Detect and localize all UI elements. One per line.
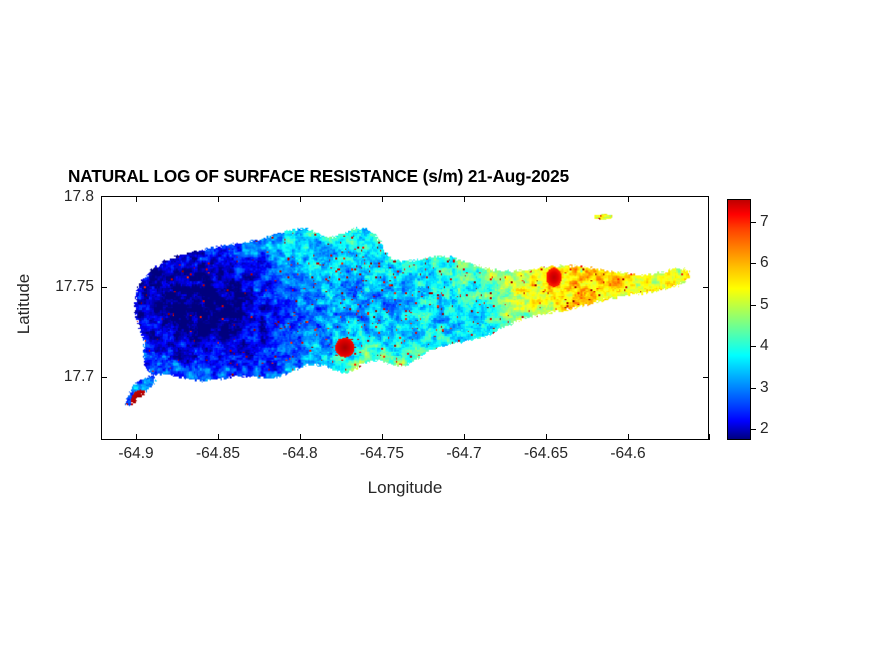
xtick-label: -64.75 xyxy=(360,445,404,463)
colorbar-label: 3 xyxy=(760,379,769,397)
colorbar-label: 7 xyxy=(760,213,769,231)
page-title: NATURAL LOG OF SURFACE RESISTANCE (s/m) … xyxy=(68,166,758,187)
xtick-mark xyxy=(628,434,629,440)
xtick-mark-top xyxy=(136,196,137,202)
xtick-mark-top xyxy=(300,196,301,202)
map-plot-area[interactable] xyxy=(101,196,709,440)
ytick-mark xyxy=(101,196,107,197)
colorbar-label: 5 xyxy=(760,296,769,314)
xtick-label: -64.6 xyxy=(610,445,645,463)
xtick-label: -64.65 xyxy=(524,445,568,463)
colorbar-tick xyxy=(751,388,756,389)
ytick-label: 17.8 xyxy=(2,188,94,206)
colorbar[interactable] xyxy=(727,199,751,440)
ytick-mark xyxy=(101,287,107,288)
colorbar-label: 6 xyxy=(760,254,769,272)
xtick-mark xyxy=(709,434,710,440)
xtick-mark-top xyxy=(382,196,383,202)
xtick-mark xyxy=(101,434,102,440)
surface-resistance-heatmap xyxy=(102,197,708,439)
colorbar-tick xyxy=(751,263,756,264)
colorbar-label: 2 xyxy=(760,420,769,438)
xtick-mark xyxy=(300,434,301,440)
colorbar-tick xyxy=(751,305,756,306)
ytick-mark-right xyxy=(703,377,709,378)
xtick-mark xyxy=(546,434,547,440)
xtick-mark-top xyxy=(546,196,547,202)
matlab-figure: NATURAL LOG OF SURFACE RESISTANCE (s/m) … xyxy=(0,0,875,656)
colorbar-tick xyxy=(751,222,756,223)
xtick-mark xyxy=(136,434,137,440)
xtick-mark xyxy=(382,434,383,440)
xtick-label: -64.85 xyxy=(196,445,240,463)
ytick-mark-right xyxy=(703,287,709,288)
xtick-label: -64.9 xyxy=(118,445,153,463)
xtick-label: -64.8 xyxy=(282,445,317,463)
x-axis-label: Longitude xyxy=(0,478,810,498)
xtick-mark-top xyxy=(218,196,219,202)
xtick-mark xyxy=(218,434,219,440)
y-axis-label: Latitude xyxy=(14,244,34,364)
colorbar-label: 4 xyxy=(760,337,769,355)
colorbar-tick xyxy=(751,346,756,347)
xtick-mark-top xyxy=(464,196,465,202)
colorbar-tick xyxy=(751,429,756,430)
ytick-mark xyxy=(101,377,107,378)
xtick-label: -64.7 xyxy=(446,445,481,463)
xtick-mark-top xyxy=(628,196,629,202)
xtick-mark xyxy=(464,434,465,440)
ytick-label: 17.7 xyxy=(2,368,94,386)
